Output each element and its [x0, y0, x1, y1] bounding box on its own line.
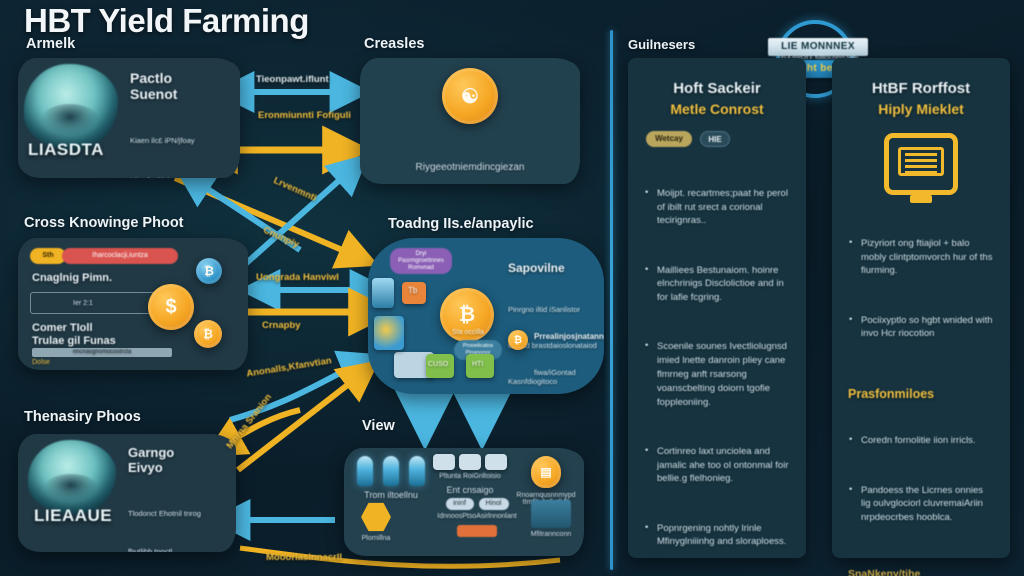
panel-mid-left-heading: Cnaglnig Pimn.: [32, 272, 112, 285]
caption-bottom-center: View: [362, 418, 395, 434]
list-item: Pandoess the Licrnes onnies lig oulvgloc…: [848, 484, 994, 525]
list-item: Moijpt. recartmes;paat he perol of ibilt…: [644, 187, 790, 228]
monitor-icon: [848, 133, 994, 195]
server-icon: [531, 500, 571, 528]
hub-center-coin-label: Sta occilla: [442, 328, 494, 337]
col1-chip-0: Wetcay: [646, 131, 692, 147]
col1-chip-1: HIE: [700, 131, 730, 147]
hub-text-block-2: fiwa/iGontad oocrezyadtainb: [534, 344, 602, 394]
panel-bottom-left-logo-label: LIEAAUE: [34, 506, 112, 526]
panel-bottom-left[interactable]: LIEAAUE Garngo Eivyo Tlodonct Ehotnil tn…: [18, 434, 236, 552]
panel-top-left-heading: Pactlo Suenot: [130, 70, 177, 102]
seesaw-icon: [457, 525, 497, 537]
arrow-label-1: Eronmiunnti Fofiguli: [258, 110, 351, 121]
col2-section3-heading: SnaNkeny/tihe: [848, 568, 994, 576]
badge-right: Iharcoclacji,iuntza: [62, 248, 178, 264]
list-item: Pizyriort ong ftiajiol + balo mobly clin…: [848, 237, 994, 278]
token-coin-icon: ☯: [442, 68, 498, 124]
infographic-canvas: HBT Yield Farming LIE MONNNEX Lihi-A.ida…: [0, 0, 1024, 576]
caption-mid-left: Cross Knowinge Phoot: [24, 215, 184, 231]
bitcoin-coin-icon-a: ₿: [196, 258, 222, 284]
col1-bullet-list: Moijpt. recartmes;paat he perol of ibilt…: [644, 159, 790, 576]
col2-heading: HtBF Rorffost: [848, 80, 994, 97]
hub-subheading-2: Prrealinjosjnatanns: [534, 332, 604, 341]
hub-chip-label-1: CUSO: [428, 360, 448, 369]
pill-chip: Hinol: [479, 498, 509, 510]
panel-top-left[interactable]: LIASDTA Pactlo Suenot Kiaen ilc£ iPN/jfo…: [18, 58, 240, 178]
asset-blob-art-top: [24, 64, 118, 150]
text-line: Riygeeotniemdincgiezan: [374, 161, 566, 175]
page-title: HBT Yield Farming: [24, 2, 309, 40]
caption-right-column: Guilnesers: [628, 37, 695, 52]
hub-heading: Sapovilne: [508, 262, 565, 276]
list-item: Hitacf mhbtinav: [130, 174, 230, 178]
badge-left: Sth: [30, 248, 66, 264]
panel-center-hub[interactable]: Dryi Pasrmgroettnnes Romvnad Tb ₿ Sta oc…: [368, 238, 604, 394]
bulb-icon: [409, 456, 425, 486]
hub-art-left-b: [374, 316, 404, 350]
caption-bottom-left: Thenasiry Phoos: [24, 409, 141, 425]
list-item: Mailliees Bestunaiom. hoinre elnchrinigs…: [644, 264, 790, 305]
dollar-coin-icon: $: [148, 284, 194, 330]
bottom-item-cards[interactable]: Pltunta RoiGnltoisio Ent cnsaigo: [428, 454, 512, 495]
hub-small-coin-icon: ₿: [508, 330, 528, 350]
bottom-item-hex[interactable]: Plornillna: [352, 502, 400, 542]
col2-section2-list: Coredn fornolitie iion irricls. Pandoess…: [848, 407, 994, 561]
text-line: Pinrgno iltid iSanlistor: [508, 304, 600, 316]
card-chip: [459, 454, 481, 470]
panel-top-center[interactable]: ☯ Riygeeotniemdincgiezan danoeondts io t…: [360, 58, 580, 184]
list-item: Coredn fornolitie iion irricls.: [848, 434, 994, 448]
bottom-label-d: Plornillna: [352, 535, 400, 542]
bottom-label-f: Mfitrannconn: [522, 531, 580, 538]
col2-section2-heading: Prasfonmiloes: [848, 387, 994, 401]
col1-chip-row: Wetcay HIE: [646, 131, 790, 147]
caption-mid-center: Toadng IIs.e/anpaylic: [388, 216, 534, 232]
panel-top-left-logo-label: LIASDTA: [28, 140, 104, 160]
text-line: fiwa/iGontad: [534, 367, 602, 379]
progress-label: nncnasgnsmocostrcta: [32, 348, 172, 357]
list-item: Cortinreo laxt unciolea and jamalic ahe …: [644, 445, 790, 486]
hub-chip-label-0: Tb: [408, 286, 417, 297]
hub-chip-label-2: HTI: [472, 360, 483, 369]
panel-mid-left[interactable]: Sth Iharcoclacji,iuntza Cnaglnig Pimn. I…: [18, 238, 248, 370]
panel-top-left-bullet-list: Kiaen ilc£ iPN/jfoay Hitacf mhbtinav tin…: [130, 108, 230, 178]
card-chip: [433, 454, 455, 470]
panel-mid-left-subheading: Comer TIoll Trulae gil Funas: [32, 322, 116, 347]
arrow-label-8: Mooorlasinnacrll: [266, 552, 342, 563]
vertical-divider: [610, 30, 613, 570]
list-item: Tlodonct Ehotnil tnrog: [128, 508, 228, 521]
seal-line1: LIE MONNNEX: [768, 38, 868, 56]
list-item: Popnrgening nohtly lrinle Mfinyglniiinhg…: [644, 522, 790, 550]
bottom-item-servers[interactable]: Mfitrannconn: [522, 500, 580, 538]
guidelines-column-2[interactable]: HtBF Rorffost Hiply Mieklet Pizyriort on…: [832, 58, 1010, 558]
bitcoin-coin-icon-b: ₿: [194, 320, 222, 348]
panel-bottom-left-heading: Garngo Eivyo: [128, 446, 174, 476]
list-item: Pociixyptlo so hgbt wnided with invo Hcr…: [848, 314, 994, 342]
hub-pill-top: Dryi Pasrmgroettnnes Romvnad: [390, 248, 452, 274]
caption-top-center: Creasles: [364, 36, 424, 52]
arrow-label-6: Anonalls,Kfanvtian: [246, 355, 333, 379]
col2-bullet-list: Pizyriort ong ftiajiol + balo mobly clin…: [848, 209, 994, 376]
arrow-label-4: Uongrada Hanviwl: [256, 272, 339, 283]
asset-blob-art-bottom: [28, 440, 116, 514]
bottom-top-label: Pltunta RoiGnltoisio: [428, 473, 512, 480]
arrow-label-7: Mnrna Sranion: [224, 392, 274, 451]
caption-top-left: Armelk: [26, 36, 75, 52]
list-item: Kiaen ilc£ iPN/jfoay: [130, 134, 230, 147]
hex-badge-icon: [361, 502, 391, 532]
pill-chip: ininf: [446, 498, 474, 510]
panel-bottom-center[interactable]: Trom iltoellnu Pltunta RoiGnltoisio Ent …: [344, 448, 584, 556]
bulb-icon: [357, 456, 373, 486]
col1-subheading: Metle Conrost: [644, 101, 790, 117]
col2-subheading: Hiply Mieklet: [848, 101, 994, 117]
bottom-item-balloon[interactable]: ▤ Rnoarnqusnnmypd tIrnfiL Aoli.gli.fti: [514, 456, 578, 506]
arrow-label-5: Crnapby: [262, 320, 301, 331]
bottom-item-bulbs[interactable]: Trom iltoellnu: [356, 456, 426, 500]
panel-bottom-left-bullet-list: Tlodonct Ehotnil tnrog fhutlibh tnoctl T…: [128, 482, 228, 552]
balloon-icon: ▤: [531, 456, 561, 488]
bottom-label-b: Ent cnsaigo: [428, 485, 512, 495]
bulb-icon: [383, 456, 399, 486]
bottom-item-pills[interactable]: ininf Hinol IdnnoosPtsoAsirlnnonlant: [434, 498, 520, 537]
footnote: Dolse: [32, 358, 50, 367]
arrow-label-2: Lrvenmnti: [272, 175, 318, 204]
arrow-label-3: Cnunpiy: [261, 225, 300, 251]
guidelines-column-1[interactable]: Hoft Sackeir Metle Conrost Wetcay HIE Mo…: [628, 58, 806, 558]
panel-top-center-text: Riygeeotniemdincgiezan danoeondts io tih…: [374, 134, 566, 184]
list-item: fhutlibh tnoctl: [128, 546, 228, 552]
bottom-label-e: IdnnoosPtsoAsirlnnonlant: [434, 513, 520, 520]
list-item: Scoenile sounes Ivectliolugnsd imied lne…: [644, 340, 790, 409]
card-chip: [485, 454, 507, 470]
bottom-label-a: Trom iltoellnu: [356, 490, 426, 500]
col1-heading: Hoft Sackeir: [644, 80, 790, 97]
hub-art-left-a: [372, 278, 394, 308]
progress-bar: nncnasgnsmocostrcta: [32, 348, 172, 357]
arrow-label-0: Tieonpawt.iflunt: [256, 74, 329, 85]
